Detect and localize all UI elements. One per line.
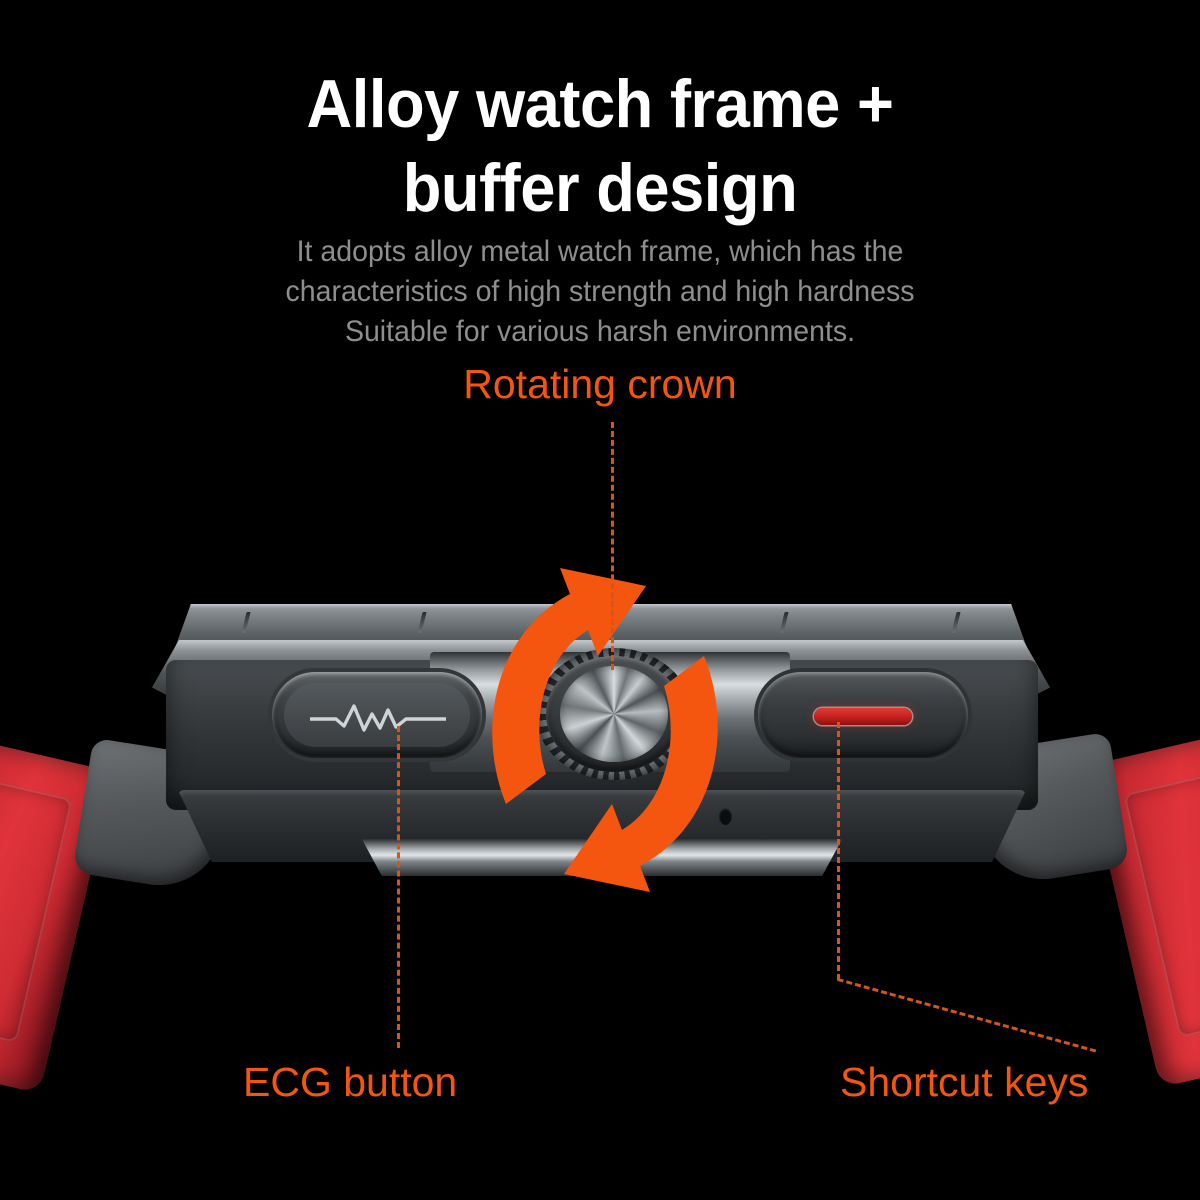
smartwatch-side-profile-illustration: [0, 0, 1200, 1200]
leader-line-crown: [611, 422, 614, 670]
bezel-notch: [951, 612, 960, 633]
ecg-button-face: [284, 683, 470, 747]
bezel-notch: [417, 612, 426, 633]
bidirectional-rotation-arrows-icon: [450, 560, 760, 900]
bezel-notch: [241, 612, 250, 633]
callout-label-shortcut-keys: Shortcut keys: [840, 1058, 1088, 1106]
strap-groove-right: [1123, 771, 1200, 1038]
strap-groove-left: [0, 776, 73, 1043]
red-bar-indicator-icon: [814, 708, 912, 725]
ecg-waveform-icon: [310, 697, 446, 735]
shortcut-key-button[interactable]: [758, 672, 968, 758]
bezel-notch: [779, 612, 788, 633]
product-feature-graphic: Alloy watch frame + buffer design It ado…: [0, 0, 1200, 1200]
leader-line-ecg: [397, 726, 400, 1048]
leader-line-shortcut: [837, 722, 840, 980]
callout-label-rotating-crown: Rotating crown: [0, 360, 1200, 408]
callout-label-ecg-button: ECG button: [243, 1058, 457, 1106]
